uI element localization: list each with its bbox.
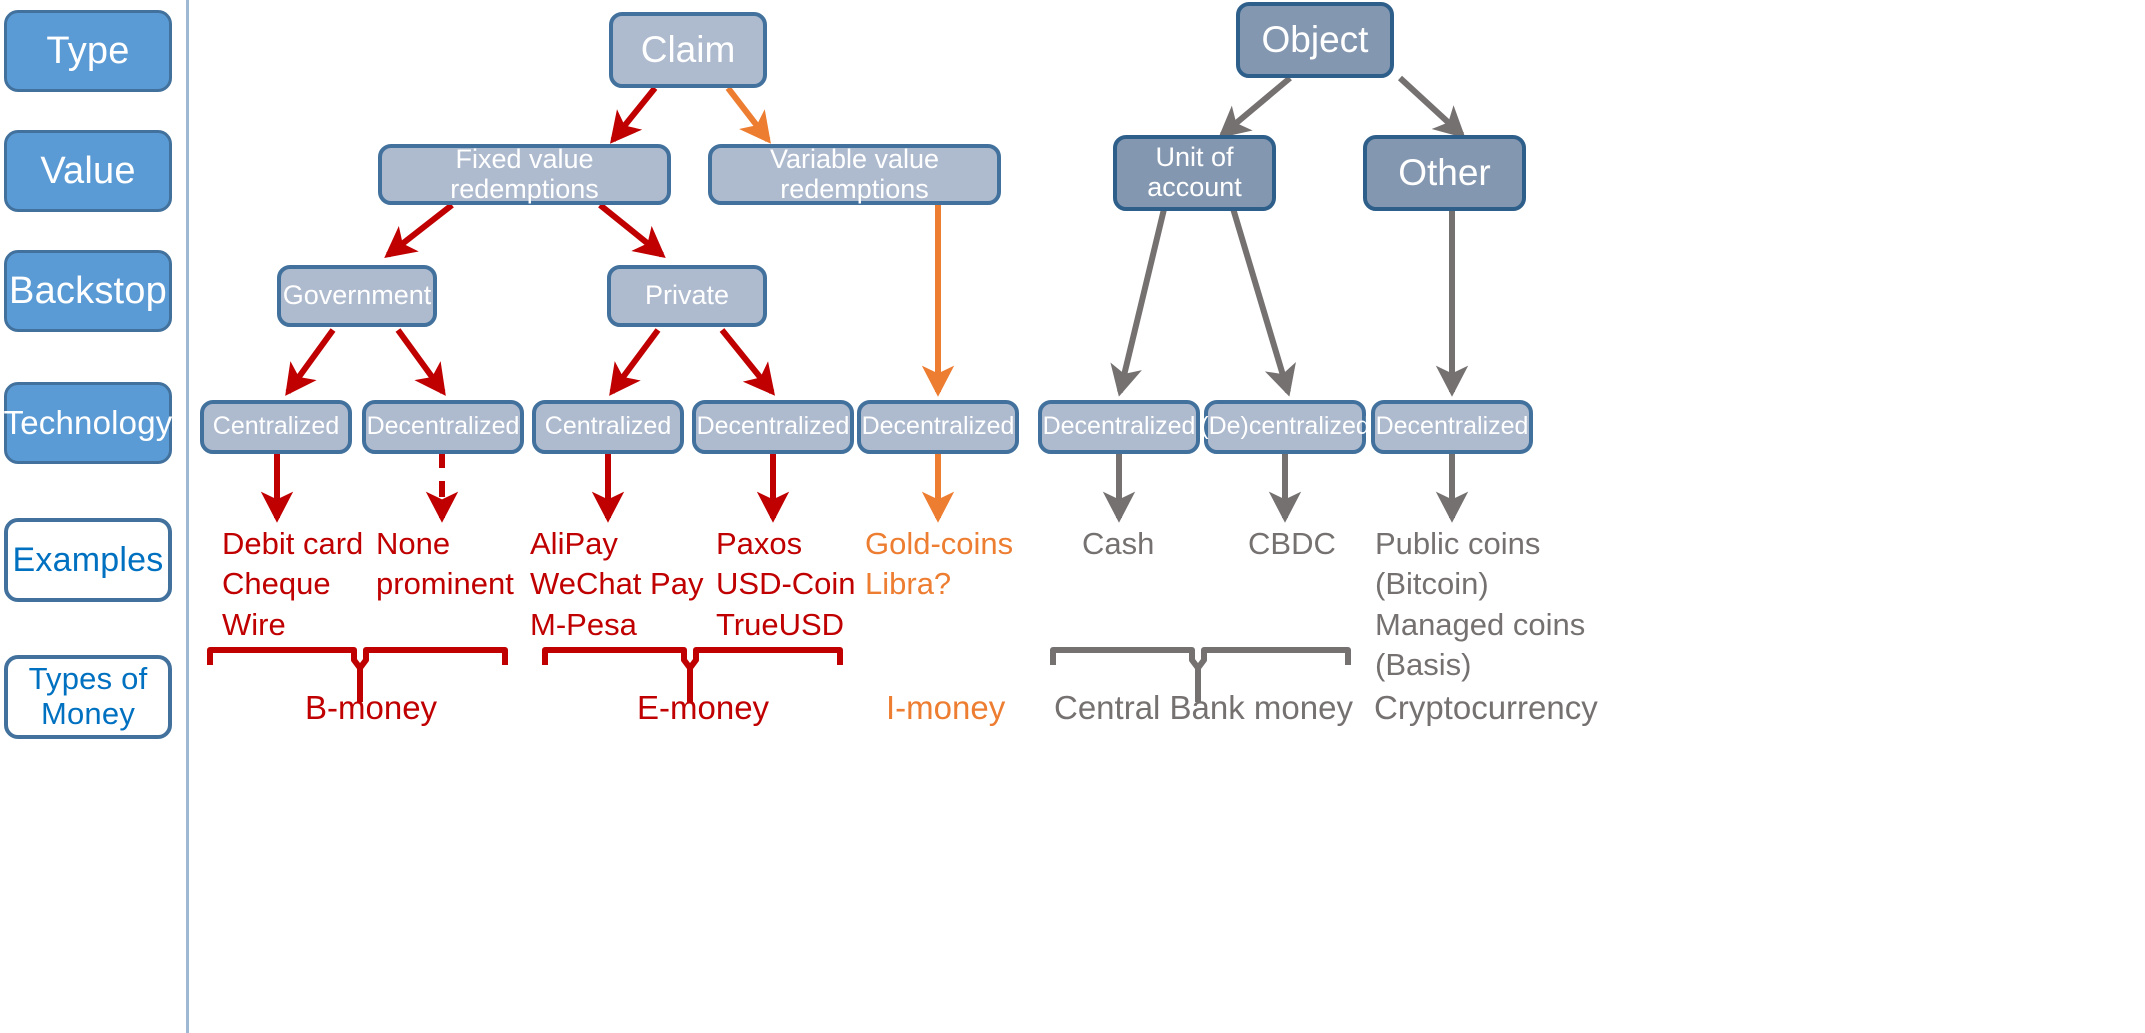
- node-tech-priv-decentralized[interactable]: Decentralized: [692, 400, 854, 454]
- row-label-type: Type: [4, 10, 172, 92]
- examples-cryptocurrency: Public coins (Bitcoin) Managed coins (Ba…: [1375, 524, 1605, 685]
- diagram-canvas: Type Value Backstop Technology Examples …: [0, 0, 2145, 1033]
- node-claim[interactable]: Claim: [609, 12, 767, 88]
- node-tech-gov-decentralized[interactable]: Decentralized: [362, 400, 524, 454]
- money-type-e-money: E-money: [637, 690, 769, 726]
- node-fixed-value-redemptions[interactable]: Fixed value redemptions: [378, 144, 671, 205]
- examples-i-money: Gold-coins Libra?: [865, 524, 1055, 605]
- node-variable-value-redemptions[interactable]: Variable value redemptions: [708, 144, 1001, 205]
- node-tech-uoa-decentralized[interactable]: Decentralized: [1038, 400, 1200, 454]
- examples-e-centralized: AliPay WeChat Pay M-Pesa: [530, 524, 740, 645]
- node-tech-other-decentralized[interactable]: Decentralized: [1371, 400, 1533, 454]
- money-type-cryptocurrency: Cryptocurrency: [1374, 690, 1598, 726]
- row-label-technology: Technology: [4, 382, 172, 464]
- money-type-i-money: I-money: [886, 690, 1005, 726]
- row-label-examples: Examples: [4, 518, 172, 602]
- node-unit-of-account[interactable]: Unit of account: [1113, 135, 1276, 211]
- row-label-backstop: Backstop: [4, 250, 172, 332]
- row-label-types-of-money: Types of Money: [4, 655, 172, 739]
- node-government[interactable]: Government: [277, 265, 437, 327]
- node-tech-variable-decentralized[interactable]: Decentralized: [857, 400, 1019, 454]
- money-type-b-money: B-money: [305, 690, 437, 726]
- row-label-value: Value: [4, 130, 172, 212]
- connector-layer: [0, 0, 2145, 1033]
- money-type-central-bank-money: Central Bank money: [1054, 690, 1353, 726]
- node-tech-priv-centralized[interactable]: Centralized: [532, 400, 684, 454]
- node-other[interactable]: Other: [1363, 135, 1526, 211]
- node-tech-gov-centralized[interactable]: Centralized: [200, 400, 352, 454]
- node-private[interactable]: Private: [607, 265, 767, 327]
- node-object[interactable]: Object: [1236, 2, 1394, 78]
- node-tech-uoa-de-centralized[interactable]: (De)centralized: [1204, 400, 1366, 454]
- examples-cash: Cash: [1082, 524, 1232, 564]
- examples-b-centralized: Debit card Cheque Wire: [222, 524, 402, 645]
- column-divider: [186, 0, 189, 1033]
